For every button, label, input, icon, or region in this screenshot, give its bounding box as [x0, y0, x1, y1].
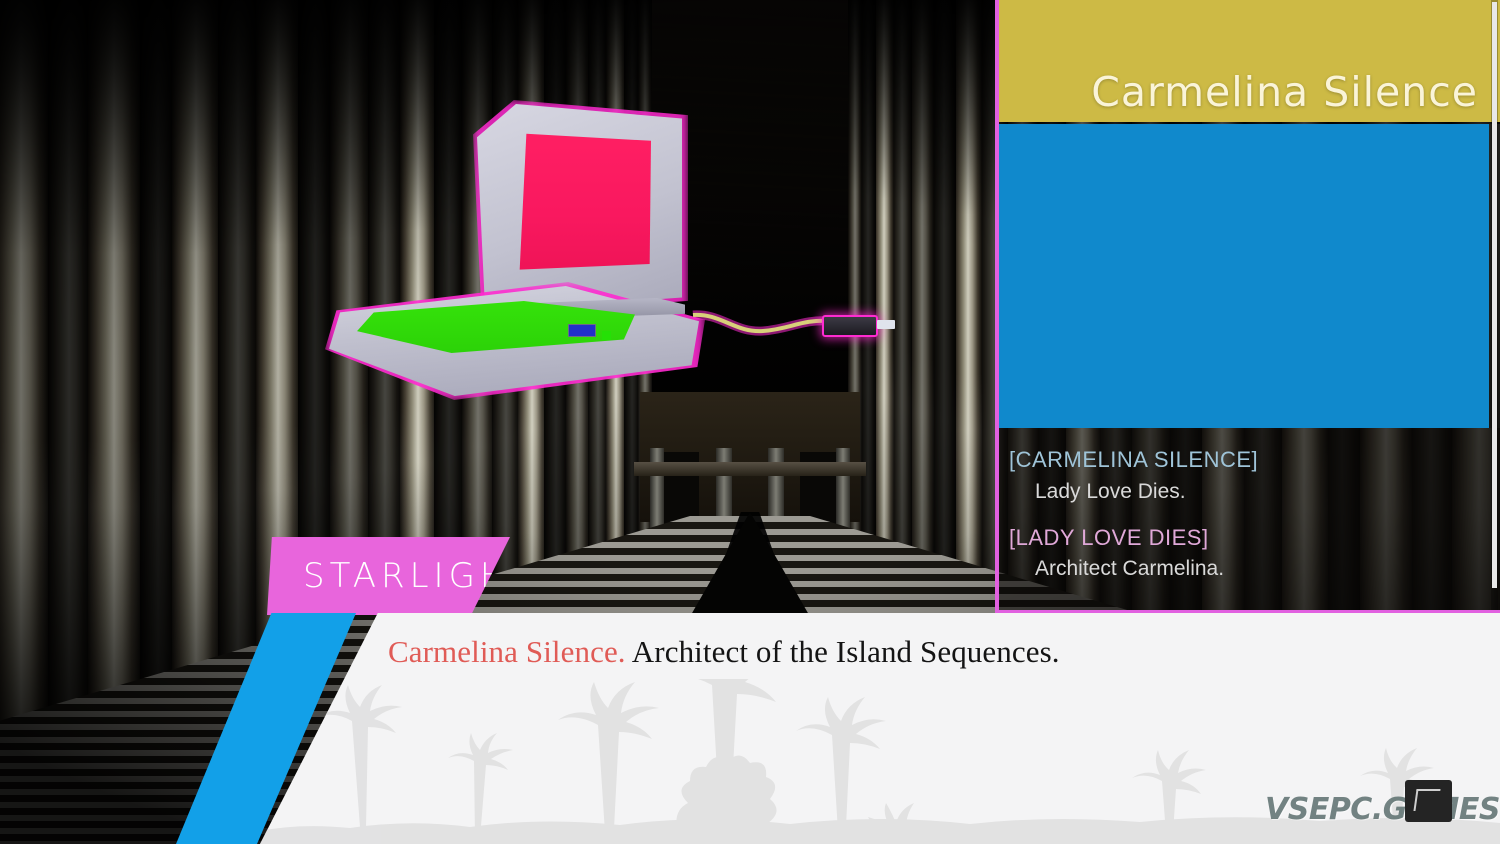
dialogue-speaker: Carmelina Silence.	[388, 634, 626, 669]
pilaster-right	[836, 448, 850, 534]
dialogue-sentence: Architect of the Island Sequences.	[626, 634, 1060, 669]
lintel	[634, 462, 866, 476]
character-panel: Carmelina Silence [CARMELINA SILENCE] La…	[995, 0, 1500, 614]
dialogue-text: Carmelina Silence. Architect of the Isla…	[388, 633, 1460, 672]
site-watermark: VSEPC.GAMES	[1265, 786, 1485, 832]
watermark-logo-icon	[1405, 780, 1452, 822]
log-speaker-0: [CARMELINA SILENCE]	[1009, 446, 1500, 474]
retro-laptop	[325, 100, 895, 410]
cable-plug-tip	[877, 320, 895, 329]
log-line-1: Architect Carmelina.	[1009, 555, 1500, 583]
laptop-power-led	[602, 331, 611, 340]
log-line-0: Lady Love Dies.	[1009, 478, 1500, 506]
character-portrait	[999, 124, 1489, 428]
speaker-name-tag: STARLIGHT	[267, 537, 510, 615]
character-name-header: Carmelina Silence	[999, 0, 1500, 122]
cable-plug	[822, 315, 878, 337]
log-speaker-1: [LADY LOVE DIES]	[1009, 524, 1500, 552]
watermark-text: VSEPC.GAMES	[1265, 792, 1500, 827]
dialogue-log[interactable]: [CARMELINA SILENCE] Lady Love Dies. [LAD…	[999, 428, 1500, 610]
character-name: Carmelina Silence	[1091, 68, 1478, 116]
laptop-indicator-panel	[568, 324, 596, 337]
pilaster-left	[650, 448, 664, 534]
log-scrollbar[interactable]	[1491, 0, 1498, 610]
game-screen: Carmelina Silence [CARMELINA SILENCE] La…	[0, 0, 1500, 844]
log-spacer	[1009, 506, 1500, 524]
laptop-screen	[517, 131, 651, 271]
